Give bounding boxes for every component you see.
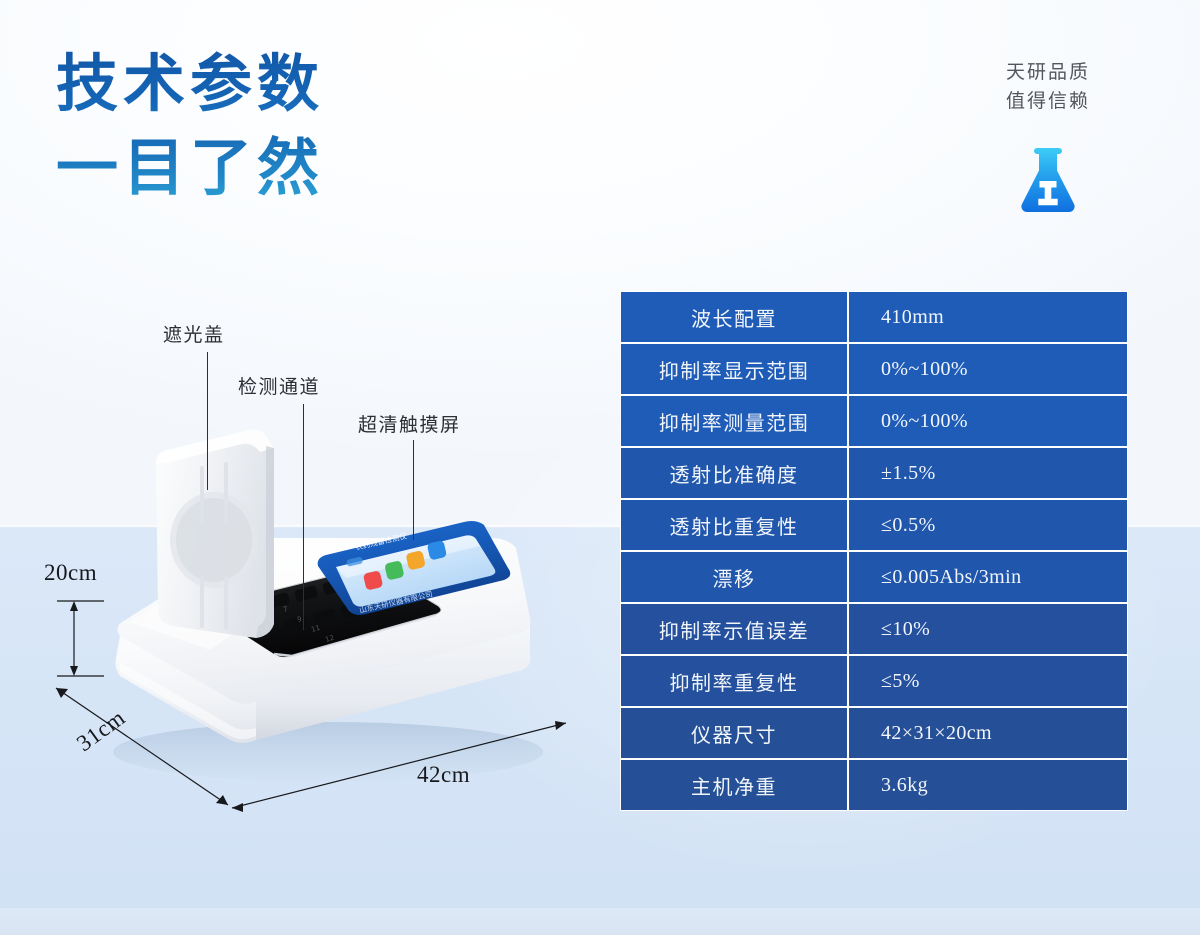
spec-label-cell: 抑制率显示范围: [620, 343, 848, 395]
spec-value-cell: 0%~100%: [848, 343, 1128, 395]
spec-label-cell: 透射比准确度: [620, 447, 848, 499]
spec-label-cell: 波长配置: [620, 291, 848, 343]
spec-sheet-page: 技术参数 一目了然 天研品质 值得信赖: [0, 0, 1200, 935]
spec-label-cell: 抑制率示值误差: [620, 603, 848, 655]
spec-value-cell: ≤0.005Abs/3min: [848, 551, 1128, 603]
spec-label-cell: 漂移: [620, 551, 848, 603]
callout-label-channel: 检测通道: [238, 372, 320, 399]
specification-table-body: 波长配置410mm抑制率显示范围0%~100%抑制率测量范围0%~100%透射比…: [620, 291, 1128, 811]
page-title-line2: 一目了然: [56, 126, 536, 210]
spec-label-cell: 透射比重复性: [620, 499, 848, 551]
spec-value-cell: 3.6kg: [848, 759, 1128, 811]
spec-row: 抑制率示值误差≤10%: [620, 603, 1128, 655]
device-illustration: 7 9 11 12: [60, 400, 580, 830]
callout-label-screen: 超清触摸屏: [358, 410, 461, 437]
spec-row: 透射比准确度±1.5%: [620, 447, 1128, 499]
dimension-width-label: 42cm: [417, 762, 470, 788]
dimension-height-label: 20cm: [44, 560, 97, 586]
specification-table: 波长配置410mm抑制率显示范围0%~100%抑制率测量范围0%~100%透射比…: [620, 291, 1128, 811]
spec-row: 主机净重3.6kg: [620, 759, 1128, 811]
spec-row: 抑制率显示范围0%~100%: [620, 343, 1128, 395]
spec-label-cell: 抑制率测量范围: [620, 395, 848, 447]
spec-label-cell: 主机净重: [620, 759, 848, 811]
spec-value-cell: ≤0.5%: [848, 499, 1128, 551]
callout-label-cover: 遮光盖: [163, 320, 225, 347]
spec-value-cell: 0%~100%: [848, 395, 1128, 447]
brand-slogan-line1: 天研品质: [958, 58, 1138, 87]
spec-value-cell: ≤10%: [848, 603, 1128, 655]
page-title: 技术参数 一目了然: [56, 42, 536, 210]
spec-value-cell: 42×31×20cm: [848, 707, 1128, 759]
leader-line-channel: [303, 404, 304, 630]
flask-icon: [1017, 142, 1079, 212]
page-title-line1: 技术参数: [56, 42, 536, 126]
spec-row: 漂移≤0.005Abs/3min: [620, 551, 1128, 603]
spec-row: 波长配置410mm: [620, 291, 1128, 343]
spec-label-cell: 仪器尺寸: [620, 707, 848, 759]
background-floor: [0, 908, 1200, 935]
spec-value-cell: ≤5%: [848, 655, 1128, 707]
spec-label-cell: 抑制率重复性: [620, 655, 848, 707]
brand-slogan-line2: 值得信赖: [958, 87, 1138, 116]
spec-row: 抑制率测量范围0%~100%: [620, 395, 1128, 447]
spec-row: 仪器尺寸42×31×20cm: [620, 707, 1128, 759]
brand-block: 天研品质 值得信赖: [958, 58, 1138, 212]
leader-line-screen: [413, 440, 414, 540]
spec-value-cell: ±1.5%: [848, 447, 1128, 499]
spec-row: 抑制率重复性≤5%: [620, 655, 1128, 707]
leader-line-cover: [207, 352, 208, 490]
spec-row: 透射比重复性≤0.5%: [620, 499, 1128, 551]
spec-value-cell: 410mm: [848, 291, 1128, 343]
